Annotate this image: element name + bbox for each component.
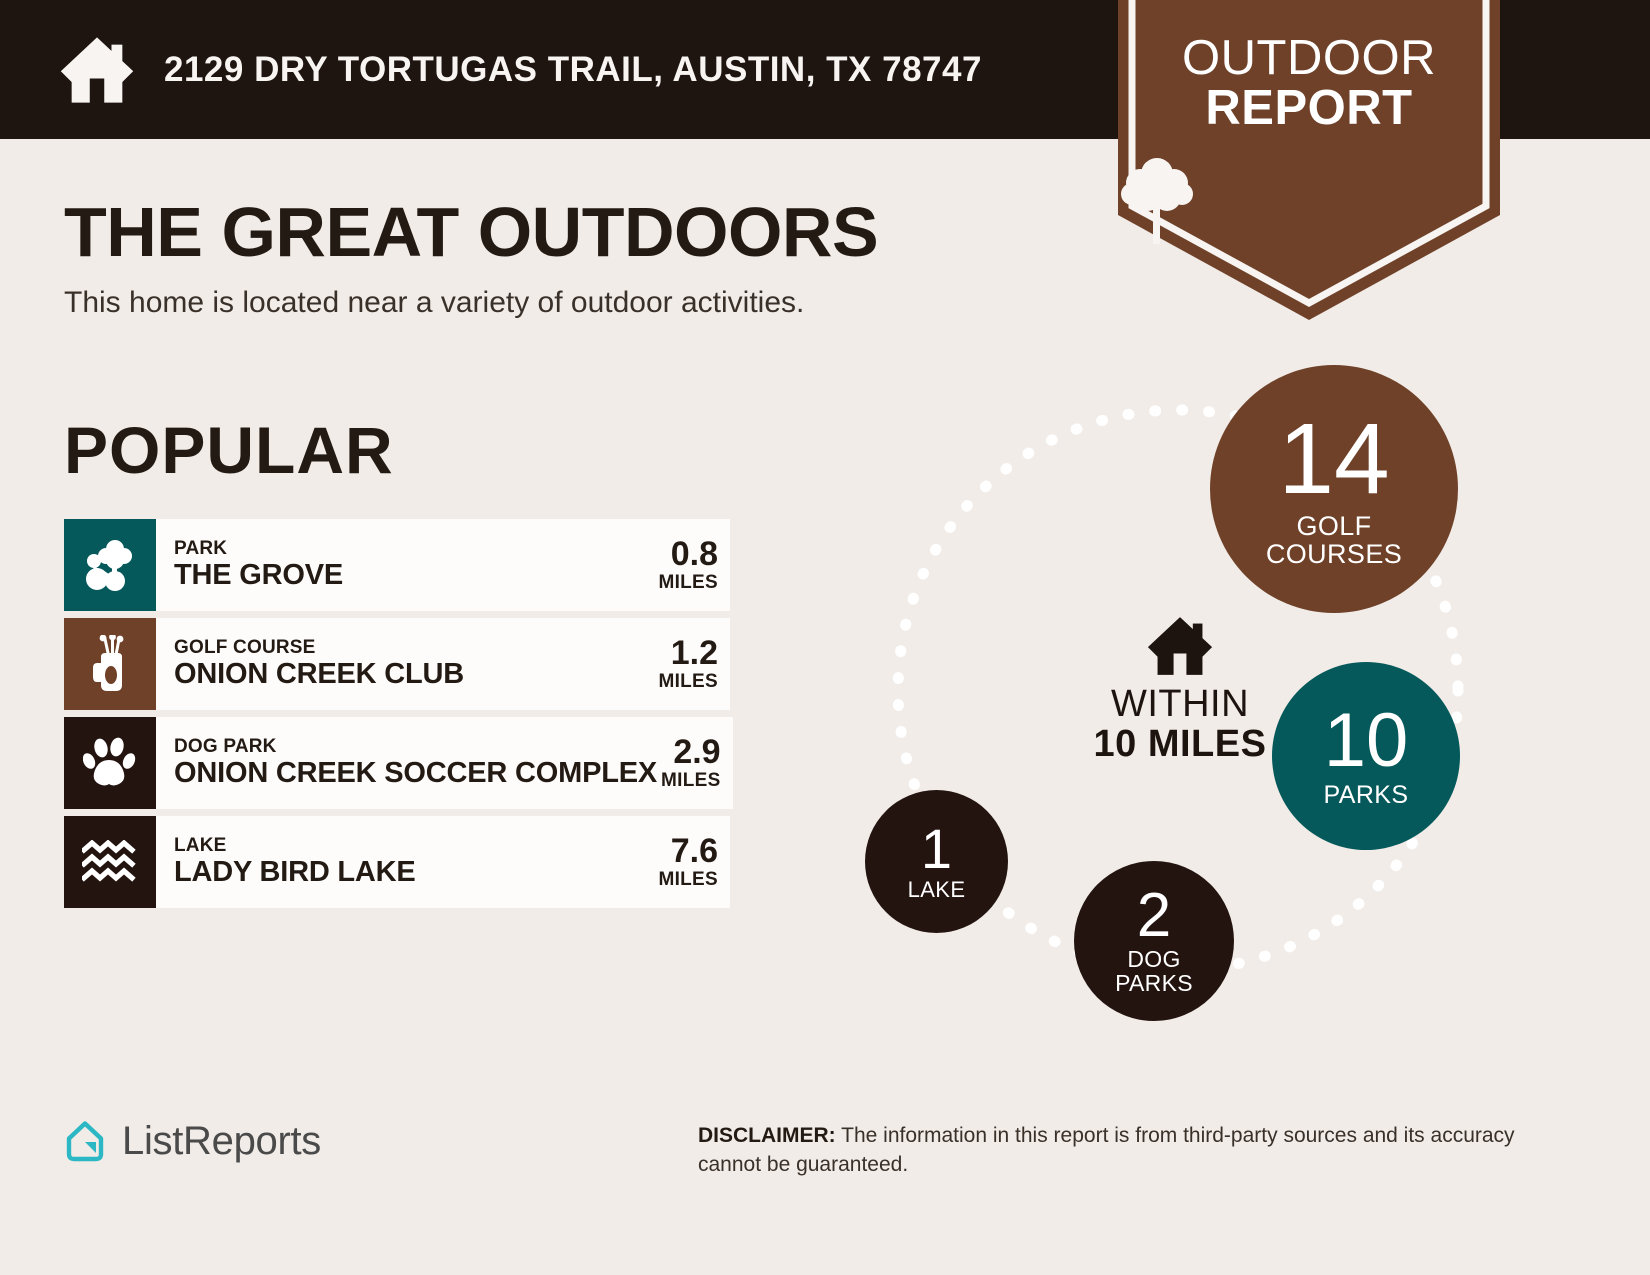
property-address: 2129 DRY TORTUGAS TRAIL, AUSTIN, TX 7874… [164, 50, 982, 90]
badge-line-report: REPORT [1118, 84, 1500, 134]
disclaimer: DISCLAIMER: The information in this repo… [698, 1122, 1518, 1180]
golf-bag-icon [64, 618, 156, 710]
water-waves-icon-glyph [82, 840, 138, 884]
list-item[interactable]: LAKE LADY BIRD LAKE 7.6 MILES [64, 816, 730, 908]
home-icon [58, 35, 136, 105]
stat-bubble-golf-courses[interactable]: 14 GOLF COURSES [1210, 365, 1458, 613]
listreports-logo[interactable]: ListReports [62, 1118, 321, 1164]
list-item[interactable]: PARK THE GROVE 0.8 MILES [64, 519, 730, 611]
distance-unit: MILES [658, 870, 718, 890]
list-item-distance: 0.8 MILES [654, 537, 718, 593]
distance-unit: MILES [658, 573, 718, 593]
stat-value: 14 [1278, 410, 1389, 508]
list-item-name: ONION CREEK CLUB [174, 658, 464, 690]
home-icon [1145, 615, 1215, 677]
stat-label-line1: DOG [1127, 948, 1180, 972]
page-title: THE GREAT OUTDOORS [64, 192, 878, 272]
stat-value: 2 [1137, 886, 1171, 947]
center-label-line1: WITHIN [1020, 685, 1340, 725]
stat-label-line1: LAKE [908, 879, 966, 902]
stat-bubble-dog-parks[interactable]: 2 DOG PARKS [1074, 861, 1234, 1021]
distance-value: 7.6 [658, 834, 718, 870]
list-item-category: LAKE [174, 835, 416, 856]
distance-value: 0.8 [658, 537, 718, 573]
list-item-name: THE GROVE [174, 559, 343, 591]
list-item-labels: GOLF COURSE ONION CREEK CLUB [174, 637, 464, 691]
distance-value: 2.9 [661, 735, 721, 771]
listreports-logo-text: ListReports [122, 1119, 321, 1164]
center-label-line2: 10 MILES [1020, 725, 1340, 765]
stat-label-line1: PARKS [1324, 782, 1409, 808]
water-waves-icon [64, 816, 156, 908]
stat-label-line1: GOLF [1296, 512, 1371, 540]
list-item-name: ONION CREEK SOCCER COMPLEX [174, 757, 657, 789]
list-item[interactable]: GOLF COURSE ONION CREEK CLUB 1.2 MILES [64, 618, 730, 710]
list-item-body: GOLF COURSE ONION CREEK CLUB 1.2 MILES [156, 618, 730, 710]
golf-bag-icon-glyph [88, 635, 132, 693]
park-trees-icon-glyph [82, 539, 138, 591]
badge-line-outdoor: OUTDOOR [1118, 34, 1500, 84]
listreports-house-logo-icon [62, 1118, 108, 1164]
popular-places-list: PARK THE GROVE 0.8 MILES [64, 519, 730, 915]
outdoor-report-infographic: 2129 DRY TORTUGAS TRAIL, AUSTIN, TX 7874… [0, 0, 1650, 1275]
list-item-distance: 1.2 MILES [654, 636, 718, 692]
within-10-miles-bubble-chart: 14 GOLF COURSES 10 PARKS 1 LAKE 2 DOG PA… [820, 350, 1540, 1070]
park-trees-icon [64, 519, 156, 611]
list-item-category: DOG PARK [174, 736, 657, 757]
list-item-labels: DOG PARK ONION CREEK SOCCER COMPLEX [174, 736, 657, 790]
page-subtitle: This home is located near a variety of o… [64, 286, 804, 320]
stat-bubble-lake[interactable]: 1 LAKE [865, 790, 1008, 933]
list-item[interactable]: DOG PARK ONION CREEK SOCCER COMPLEX 2.9 … [64, 717, 730, 809]
list-item-body: DOG PARK ONION CREEK SOCCER COMPLEX 2.9 … [156, 717, 733, 809]
list-item-labels: LAKE LADY BIRD LAKE [174, 835, 416, 889]
paw-print-icon [64, 717, 156, 809]
paw-print-icon-glyph [83, 737, 137, 789]
tree-icon [1118, 152, 1196, 248]
list-item-labels: PARK THE GROVE [174, 538, 343, 592]
stat-label-line2: PARKS [1115, 972, 1193, 996]
distance-unit: MILES [661, 771, 721, 791]
distance-unit: MILES [658, 672, 718, 692]
chart-center-marker: WITHIN 10 MILES [1020, 615, 1340, 765]
badge-title: OUTDOOR REPORT [1118, 34, 1500, 134]
list-item-distance: 7.6 MILES [654, 834, 718, 890]
outdoor-report-badge: OUTDOOR REPORT [1118, 0, 1500, 320]
section-title-popular: POPULAR [64, 412, 394, 488]
list-item-body: PARK THE GROVE 0.8 MILES [156, 519, 730, 611]
stat-value: 1 [921, 822, 952, 877]
distance-value: 1.2 [658, 636, 718, 672]
stat-label-line2: COURSES [1266, 540, 1402, 568]
list-item-name: LADY BIRD LAKE [174, 856, 416, 888]
list-item-category: PARK [174, 538, 343, 559]
list-item-category: GOLF COURSE [174, 637, 464, 658]
list-item-body: LAKE LADY BIRD LAKE 7.6 MILES [156, 816, 730, 908]
list-item-distance: 2.9 MILES [657, 735, 721, 791]
tree-icon-wrap [1118, 152, 1500, 248]
disclaimer-label: DISCLAIMER: [698, 1124, 836, 1147]
